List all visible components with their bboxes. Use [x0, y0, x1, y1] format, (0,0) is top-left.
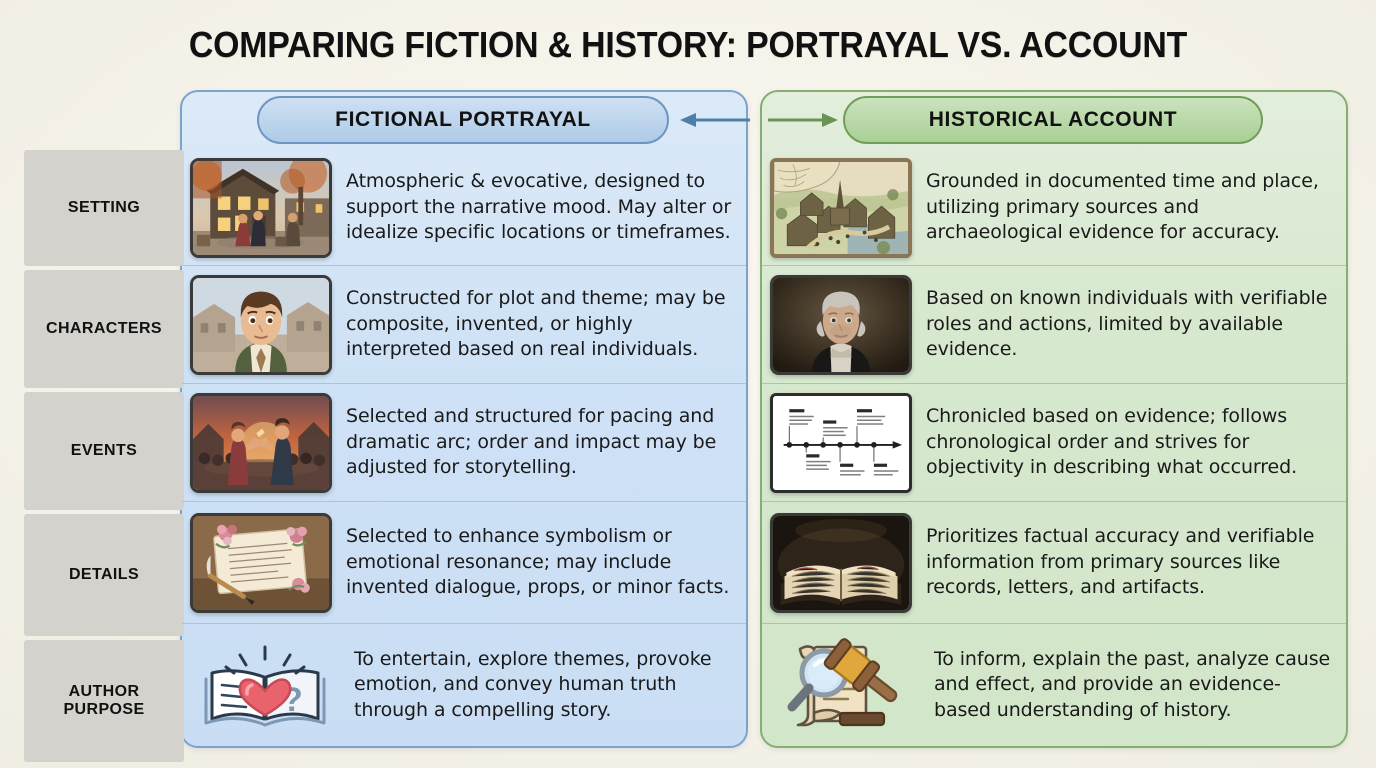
history-characters-text: Based on known individuals with verifiab…: [926, 286, 1336, 362]
history-rows: Grounded in documented time and place, u…: [762, 150, 1346, 746]
history-row-setting: Grounded in documented time and place, u…: [762, 150, 1346, 266]
arrow-left-icon: [676, 106, 750, 134]
fiction-events-text: Selected and structured for pacing and d…: [346, 404, 736, 480]
fiction-column-header-label: FICTIONAL PORTRAYAL: [335, 108, 591, 132]
fiction-characters-text: Constructed for plot and theme; may be c…: [346, 286, 736, 362]
fiction-row-events: Selected and structured for pacing and d…: [182, 384, 746, 502]
fiction-author-purpose-text: To entertain, explore themes, provoke em…: [354, 647, 736, 723]
open-antique-ledger-book: [770, 513, 912, 613]
arrow-right-icon: [768, 106, 842, 134]
page-title: COMPARING FICTION & HISTORY: PORTRAYAL V…: [41, 24, 1334, 66]
row-label-setting: SETTING: [24, 150, 184, 266]
dramatic-confrontation-scene-illustration: [190, 393, 332, 493]
antique-map-village-engraving: [770, 158, 912, 258]
row-label-text: SETTING: [68, 199, 140, 218]
george-washington-oil-portrait: [770, 275, 912, 375]
history-row-events: Chronicled based on evidence; follows ch…: [762, 384, 1346, 502]
fiction-row-setting: Atmospheric & evocative, designed to sup…: [182, 150, 746, 266]
historical-timeline-diagram: [770, 393, 912, 493]
row-label-events: EVENTS: [24, 392, 184, 510]
row-label-text: DETAILS: [69, 566, 139, 585]
row-label-column: SETTING CHARACTERS EVENTS DETAILS AUTHOR…: [24, 150, 184, 766]
fiction-setting-text: Atmospheric & evocative, designed to sup…: [346, 169, 736, 245]
victorian-village-autumn-illustration: [190, 158, 332, 258]
fiction-details-text: Selected to enhance symbolism or emotion…: [346, 524, 736, 600]
fiction-row-details: Selected to enhance symbolism or emotion…: [182, 502, 746, 624]
fiction-rows: Atmospheric & evocative, designed to sup…: [182, 150, 746, 746]
row-label-author-purpose: AUTHOR PURPOSE: [24, 640, 184, 762]
infographic-canvas: COMPARING FICTION & HISTORY: PORTRAYAL V…: [0, 0, 1376, 768]
open-book-heart-question-icon: ?: [190, 633, 340, 737]
fiction-row-author-purpose: ? To entertain, explore themes, provoke …: [182, 624, 746, 746]
history-row-characters: Based on known individuals with verifiab…: [762, 266, 1346, 384]
history-row-author-purpose: To inform, explain the past, analyze cau…: [762, 624, 1346, 746]
history-setting-text: Grounded in documented time and place, u…: [926, 169, 1336, 245]
fiction-row-characters: Constructed for plot and theme; may be c…: [182, 266, 746, 384]
history-column-header: HISTORICAL ACCOUNT: [843, 96, 1263, 144]
history-row-details: Prioritizes factual accuracy and verifia…: [762, 502, 1346, 624]
handwritten-letter-with-flowers-still-life: [190, 513, 332, 613]
row-label-text: EVENTS: [71, 442, 137, 461]
row-label-text: AUTHOR PURPOSE: [30, 683, 178, 718]
history-column-header-label: HISTORICAL ACCOUNT: [929, 108, 1177, 132]
row-label-text: CHARACTERS: [46, 320, 162, 339]
fiction-column-header: FICTIONAL PORTRAYAL: [257, 96, 669, 144]
history-events-text: Chronicled based on evidence; follows ch…: [926, 404, 1336, 480]
history-details-text: Prioritizes factual accuracy and verifia…: [926, 524, 1336, 600]
scroll-magnifier-gavel-icon: [770, 633, 920, 737]
illustrated-young-man-character-portrait: [190, 275, 332, 375]
history-author-purpose-text: To inform, explain the past, analyze cau…: [934, 647, 1336, 723]
row-label-details: DETAILS: [24, 514, 184, 636]
row-label-characters: CHARACTERS: [24, 270, 184, 388]
